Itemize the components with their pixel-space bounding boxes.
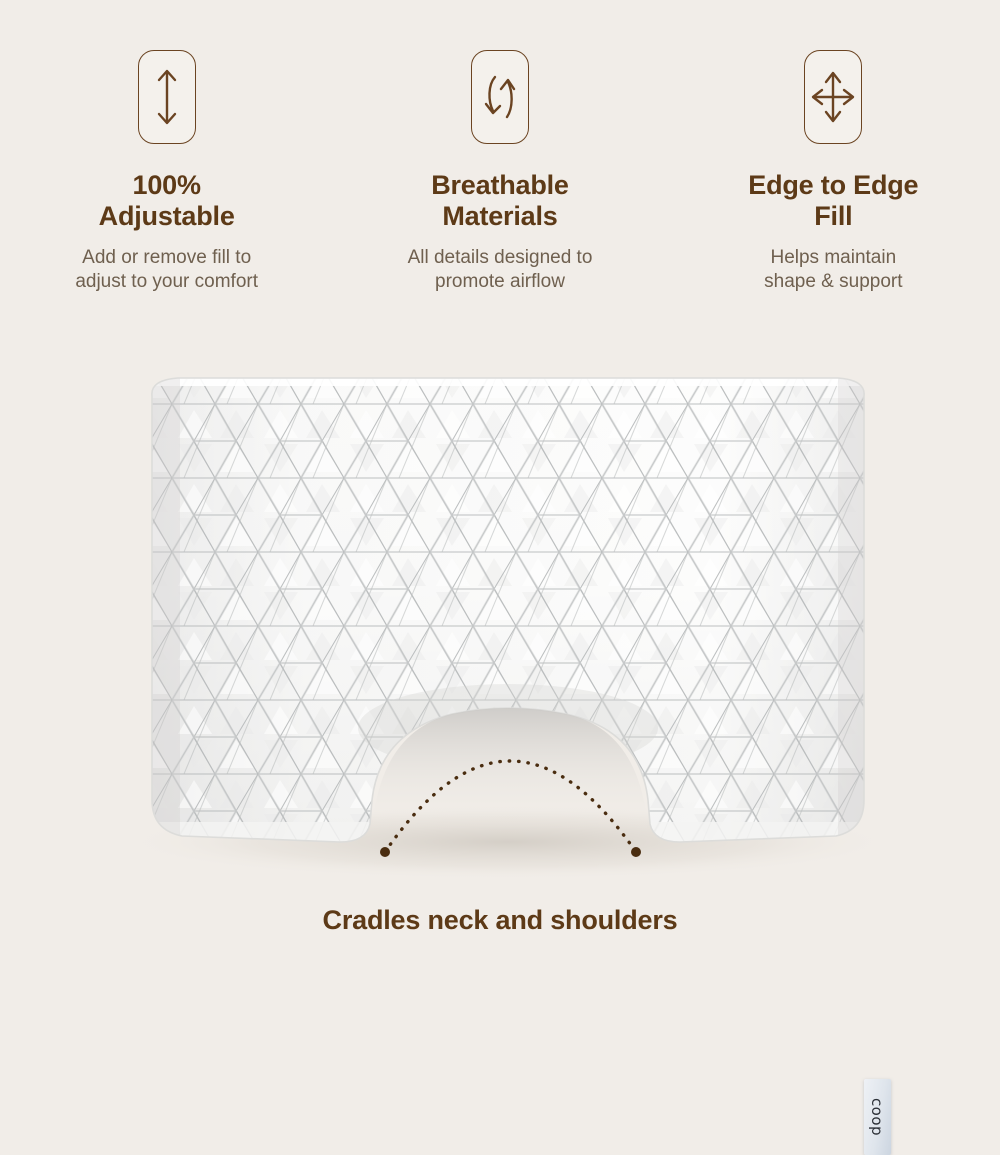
feature-subtitle: All details designed to promote airflow [408,246,593,294]
product-image: coop [0,330,1000,900]
feature-subtitle: Helps maintain shape & support [764,246,902,294]
airflow-curved-arrows-icon [471,50,529,144]
feature-subtitle-line2: promote airflow [408,270,593,294]
product-caption: Cradles neck and shoulders [0,905,1000,936]
feature-title-line1: Edge to Edge [748,170,918,201]
arc-endpoint-dot-right [631,847,641,857]
four-way-arrow-icon [804,50,862,144]
feature-adjustable: 100% Adjustable Add or remove fill to ad… [0,0,333,330]
feature-edge-to-edge: Edge to Edge Fill Helps maintain shape &… [667,0,1000,330]
feature-title: Breathable Materials [431,170,569,233]
feature-title: Edge to Edge Fill [748,170,918,233]
brand-tag-label: coop [869,1098,887,1136]
arc-endpoint-dot-left [380,847,390,857]
feature-title-line1: Breathable [431,170,569,201]
feature-subtitle-line2: shape & support [764,270,902,294]
feature-title-line1: 100% [99,170,235,201]
feature-breathable: Breathable Materials All details designe… [333,0,666,330]
features-row: 100% Adjustable Add or remove fill to ad… [0,0,1000,330]
feature-title-line2: Materials [431,201,569,232]
feature-subtitle-line1: All details designed to [408,246,593,270]
feature-subtitle: Add or remove fill to adjust to your com… [75,246,258,294]
feature-title: 100% Adjustable [99,170,235,233]
feature-title-line2: Fill [748,201,918,232]
feature-title-line2: Adjustable [99,201,235,232]
vertical-double-arrow-icon [138,50,196,144]
feature-subtitle-line1: Add or remove fill to [75,246,258,270]
pillow-illustration [0,330,1000,900]
feature-subtitle-line2: adjust to your comfort [75,270,258,294]
feature-subtitle-line1: Helps maintain [764,246,902,270]
brand-tag: coop [864,1079,891,1155]
